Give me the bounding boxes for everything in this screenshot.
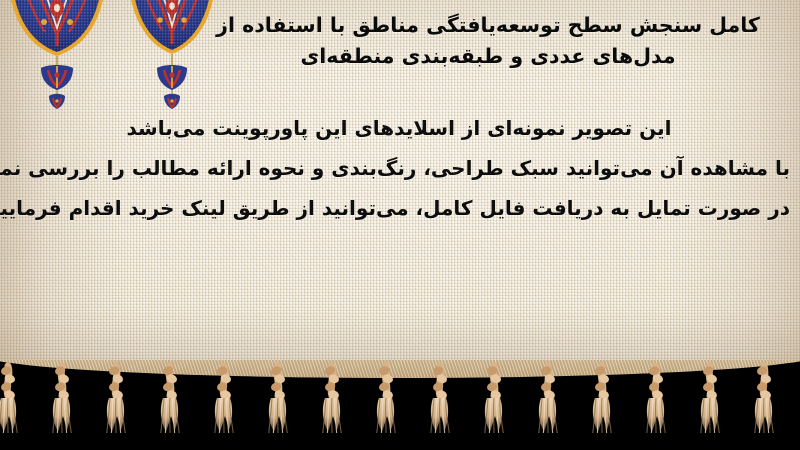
carpet-tassel: [161, 365, 179, 433]
tassel-group: [0, 365, 773, 433]
carpet-tassel: [755, 365, 773, 433]
slide-title: کامل سنجش سطح توسعه‌یافتگی مناطق با استف…: [188, 10, 788, 72]
carpet-tassel: [269, 365, 287, 433]
slide-text-layer: کامل سنجش سطح توسعه‌یافتگی مناطق با استف…: [0, 0, 800, 378]
carpet-tassel: [431, 365, 449, 433]
carpet-tassel: [0, 365, 17, 433]
carpet-tassel: [593, 365, 611, 433]
carpet-tassel: [215, 365, 233, 433]
slide-canvas: کامل سنجش سطح توسعه‌یافتگی مناطق با استف…: [0, 0, 800, 450]
title-line-1: کامل سنجش سطح توسعه‌یافتگی مناطق با استف…: [188, 10, 788, 41]
carpet-tassel: [647, 365, 665, 433]
body-line-2: با مشاهده آن می‌توانید سبک طراحی، رنگ‌بن…: [8, 148, 790, 188]
title-line-2: مدل‌های عددی و طبقه‌بندی منطقه‌ای: [188, 41, 788, 72]
carpet-tassel: [107, 365, 125, 433]
carpet-tassel: [485, 365, 503, 433]
carpet-tassel: [377, 365, 395, 433]
carpet-tassel: [53, 365, 71, 433]
carpet-tassel: [701, 365, 719, 433]
carpet-tassels-svg: [0, 360, 800, 450]
carpet-tassel: [539, 365, 557, 433]
carpet-tassel: [323, 365, 341, 433]
carpet-fringe-zone: [0, 360, 800, 450]
body-line-1: این تصویر نمونه‌ای از اسلایدهای این پاور…: [8, 108, 790, 148]
slide-body: این تصویر نمونه‌ای از اسلایدهای این پاور…: [8, 108, 790, 228]
body-line-3: در صورت تمایل به دریافت فایل کامل، می‌تو…: [8, 188, 790, 228]
